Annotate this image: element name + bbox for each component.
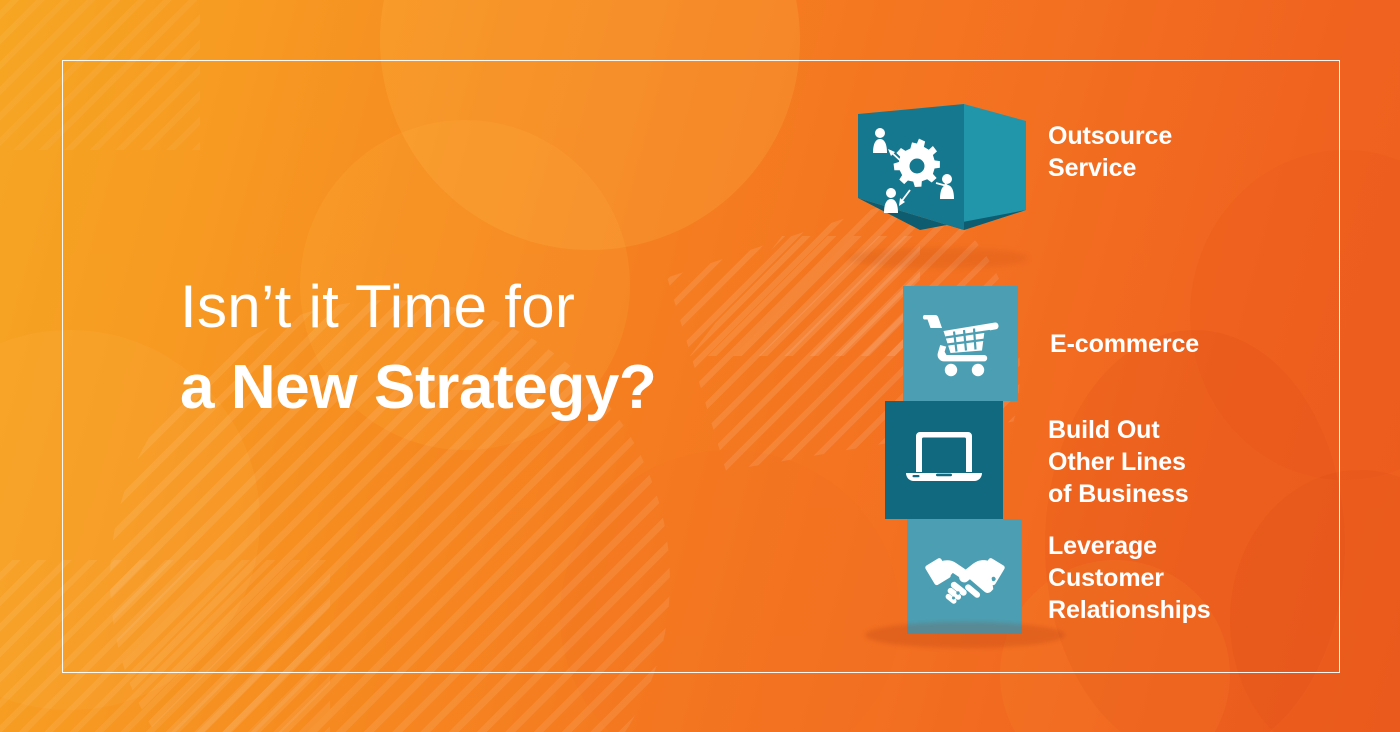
headline-line-2: a New Strategy? [180, 353, 800, 422]
promotional-banner: Isn’t it Time for a New Strategy? [0, 0, 1400, 732]
strategy-icon-stack: Outsource Service E-commerce Build Out O… [830, 70, 1370, 670]
label-e-commerce: E-commerce [1050, 328, 1199, 360]
handshake-icon [923, 546, 1007, 608]
tile-leverage-customer-relationships[interactable] [907, 519, 1022, 634]
label-leverage-customer-relationships: Leverage Customer Relationships [1048, 530, 1211, 626]
headline-line-1: Isn’t it Time for [180, 275, 800, 339]
label-build-out-other-lines-of-business: Build Out Other Lines of Business [1048, 414, 1189, 510]
shopping-cart-icon [922, 309, 1000, 379]
tile-build-out-other-lines-of-business[interactable] [885, 401, 1003, 519]
page-title: Isn’t it Time for a New Strategy? [180, 275, 800, 422]
label-outsource-service: Outsource Service [1048, 120, 1172, 184]
laptop-icon [904, 430, 984, 490]
tile-stack-drop-shadow [865, 622, 1065, 648]
cube-gear-people-icon [840, 90, 1040, 260]
tile-e-commerce[interactable] [903, 286, 1018, 401]
